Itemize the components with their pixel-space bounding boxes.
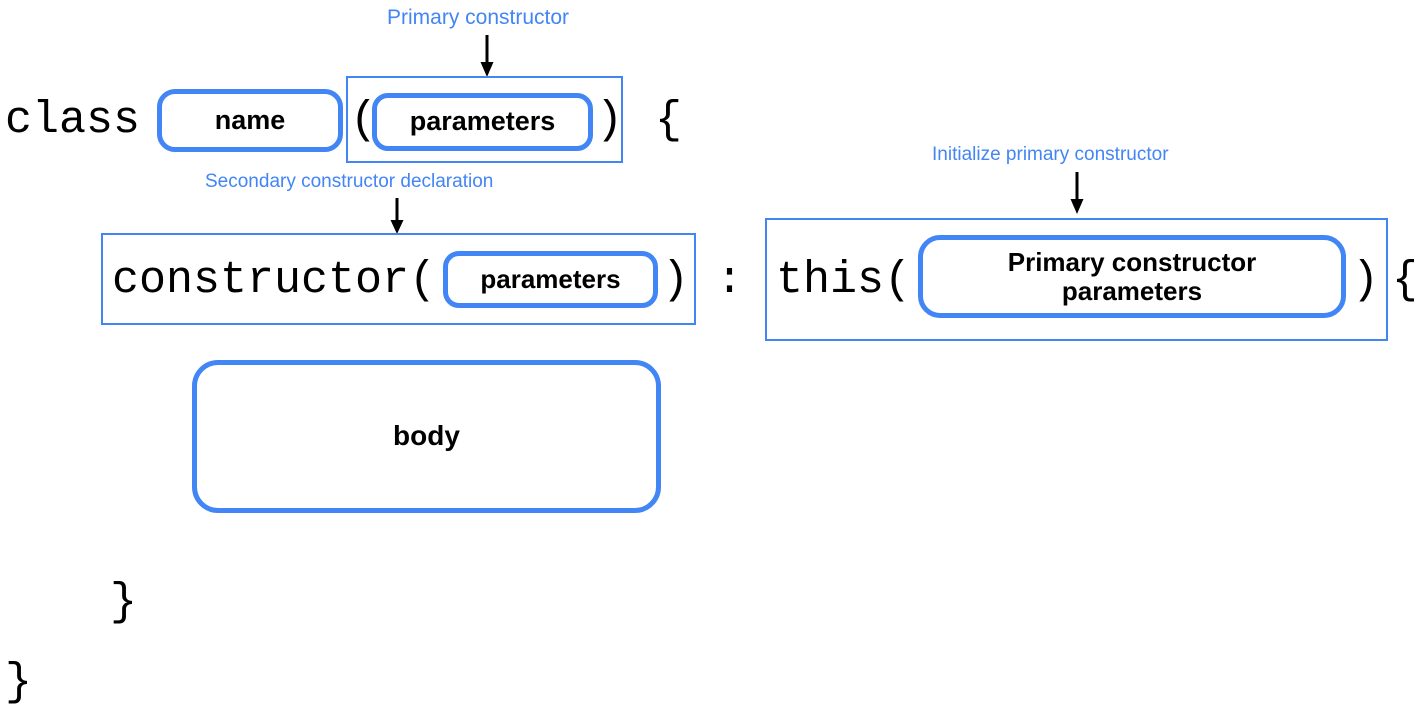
box-primary-constructor-parameters-line1: Primary constructor (1008, 248, 1257, 276)
box-primary-constructor-parameters: Primary constructor parameters (918, 235, 1346, 318)
code-constructor-keyword: constructor( (112, 258, 436, 303)
label-initialize-primary-constructor: Initialize primary constructor (932, 145, 1169, 164)
code-open-brace-class: { (655, 98, 682, 143)
arrow-initialize-primary-constructor-icon (1068, 172, 1086, 214)
label-secondary-constructor-declaration: Secondary constructor declaration (205, 172, 493, 191)
code-close-paren-secondary: ) (662, 258, 689, 303)
diagram-canvas: Primary constructor class name ( paramet… (0, 0, 1414, 711)
code-this-keyword: this( (776, 258, 911, 303)
code-close-brace-class: } (5, 660, 32, 705)
arrow-primary-constructor-icon (478, 35, 496, 77)
arrow-secondary-constructor-icon (388, 198, 406, 234)
code-close-paren-primary: ) (596, 98, 623, 143)
code-class-keyword: class (5, 98, 140, 143)
code-delegation-colon: : (716, 258, 743, 303)
box-body: body (192, 360, 661, 513)
label-primary-constructor: Primary constructor (387, 7, 569, 28)
code-close-paren-this: ) (1352, 258, 1379, 303)
box-secondary-parameters: parameters (443, 251, 658, 308)
box-class-name: name (157, 89, 343, 152)
box-primary-constructor-parameters-line2: parameters (1062, 277, 1202, 305)
code-close-brace-secondary: } (110, 580, 137, 625)
code-open-brace-secondary: { (1392, 258, 1414, 303)
box-primary-parameters: parameters (372, 93, 593, 151)
